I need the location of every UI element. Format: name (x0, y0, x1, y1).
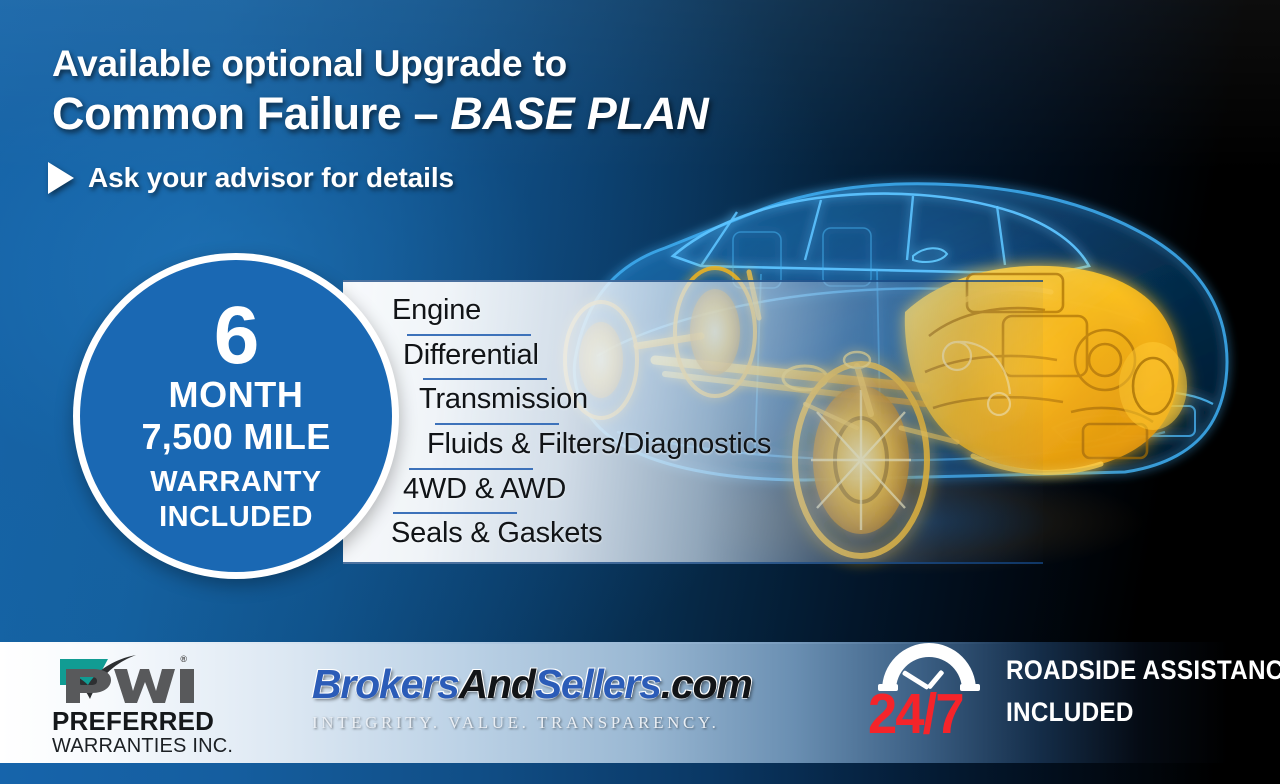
list-item: Engine (343, 288, 1043, 333)
coverage-item-label: Transmission (419, 383, 588, 416)
coverage-item-label: Engine (392, 294, 481, 327)
pwi-mark-svg (52, 655, 217, 705)
badge-term-unit: MONTH (169, 374, 304, 415)
clock-and-hours: 24/7 (868, 636, 990, 748)
coverage-item-label: Fluids & Filters/Diagnostics (427, 428, 771, 461)
bottom-accent-strip (0, 763, 1280, 784)
brokersandsellers-logo[interactable]: BrokersAndSellers.com INTEGRITY. VALUE. … (312, 664, 812, 752)
badge-term-number: 6 (214, 300, 259, 372)
brokersandsellers-wordmark: BrokersAndSellers.com (312, 664, 812, 705)
list-item: 4WD & AWD (343, 467, 1043, 512)
headline-line-1: Available optional Upgrade to (52, 44, 812, 84)
cta-label: Ask your advisor for details (88, 162, 454, 194)
headline-plan-prefix: Common Failure (52, 88, 414, 139)
headline-plan-emphasis: BASE PLAN (450, 88, 708, 139)
headline-block: Available optional Upgrade to Common Fai… (52, 44, 812, 137)
pwi-preferred-label: PREFERRED (52, 708, 252, 735)
badge-included-label: INCLUDED (159, 500, 313, 535)
warranty-badge-inner: 6 MONTH 7,500 MILE WARRANTY INCLUDED (80, 260, 392, 572)
coverage-panel: Engine Differential Transmission Fluids … (343, 280, 1043, 564)
cta-row: Ask your advisor for details (48, 162, 454, 194)
list-item: Differential (343, 333, 1043, 378)
registered-trademark-icon: ® (180, 654, 187, 664)
badge-warranty-label: WARRANTY (150, 465, 322, 500)
letter-i (180, 669, 194, 703)
roadside-assistance-block: 24/7 ROADSIDE ASSISTANCE INCLUDED (868, 636, 1260, 752)
bas-part-and: And (459, 661, 535, 707)
headline-dash: – (414, 88, 451, 139)
pwi-warranties-label: WARRANTIES INC. (52, 735, 252, 758)
list-item: Seals & Gaskets (343, 511, 1043, 556)
pwi-logo: ® PREFERRED WARRANTIES INC. (52, 655, 252, 753)
hours-247-label: 24/7 (868, 686, 980, 743)
bas-part-dotcom: .com (661, 661, 752, 707)
coverage-item-label: 4WD & AWD (403, 473, 566, 506)
pwi-wordmark: ® (52, 655, 217, 705)
letter-w (114, 669, 175, 703)
promo-banner: Available optional Upgrade to Common Fai… (0, 0, 1280, 784)
coverage-item-label: Differential (403, 339, 539, 372)
roadside-line-1: ROADSIDE ASSISTANCE (1006, 650, 1280, 692)
bas-part-brokers: Brokers (312, 661, 459, 707)
headline-line-2: Common Failure – BASE PLAN (52, 90, 812, 137)
warranty-badge: 6 MONTH 7,500 MILE WARRANTY INCLUDED (73, 253, 399, 579)
play-triangle-icon (48, 162, 74, 194)
roadside-line-2: INCLUDED (1006, 692, 1280, 734)
badge-mileage: 7,500 MILE (141, 416, 330, 457)
list-item: Fluids & Filters/Diagnostics (343, 422, 1043, 467)
bas-part-sellers: Sellers (535, 661, 661, 707)
letter-p (66, 669, 111, 703)
coverage-list: Engine Differential Transmission Fluids … (343, 282, 1043, 562)
list-item: Transmission (343, 377, 1043, 422)
coverage-item-label: Seals & Gaskets (391, 517, 602, 550)
roadside-text-block: ROADSIDE ASSISTANCE INCLUDED (1006, 636, 1280, 734)
brokersandsellers-tagline: INTEGRITY. VALUE. TRANSPARENCY. (312, 713, 812, 733)
